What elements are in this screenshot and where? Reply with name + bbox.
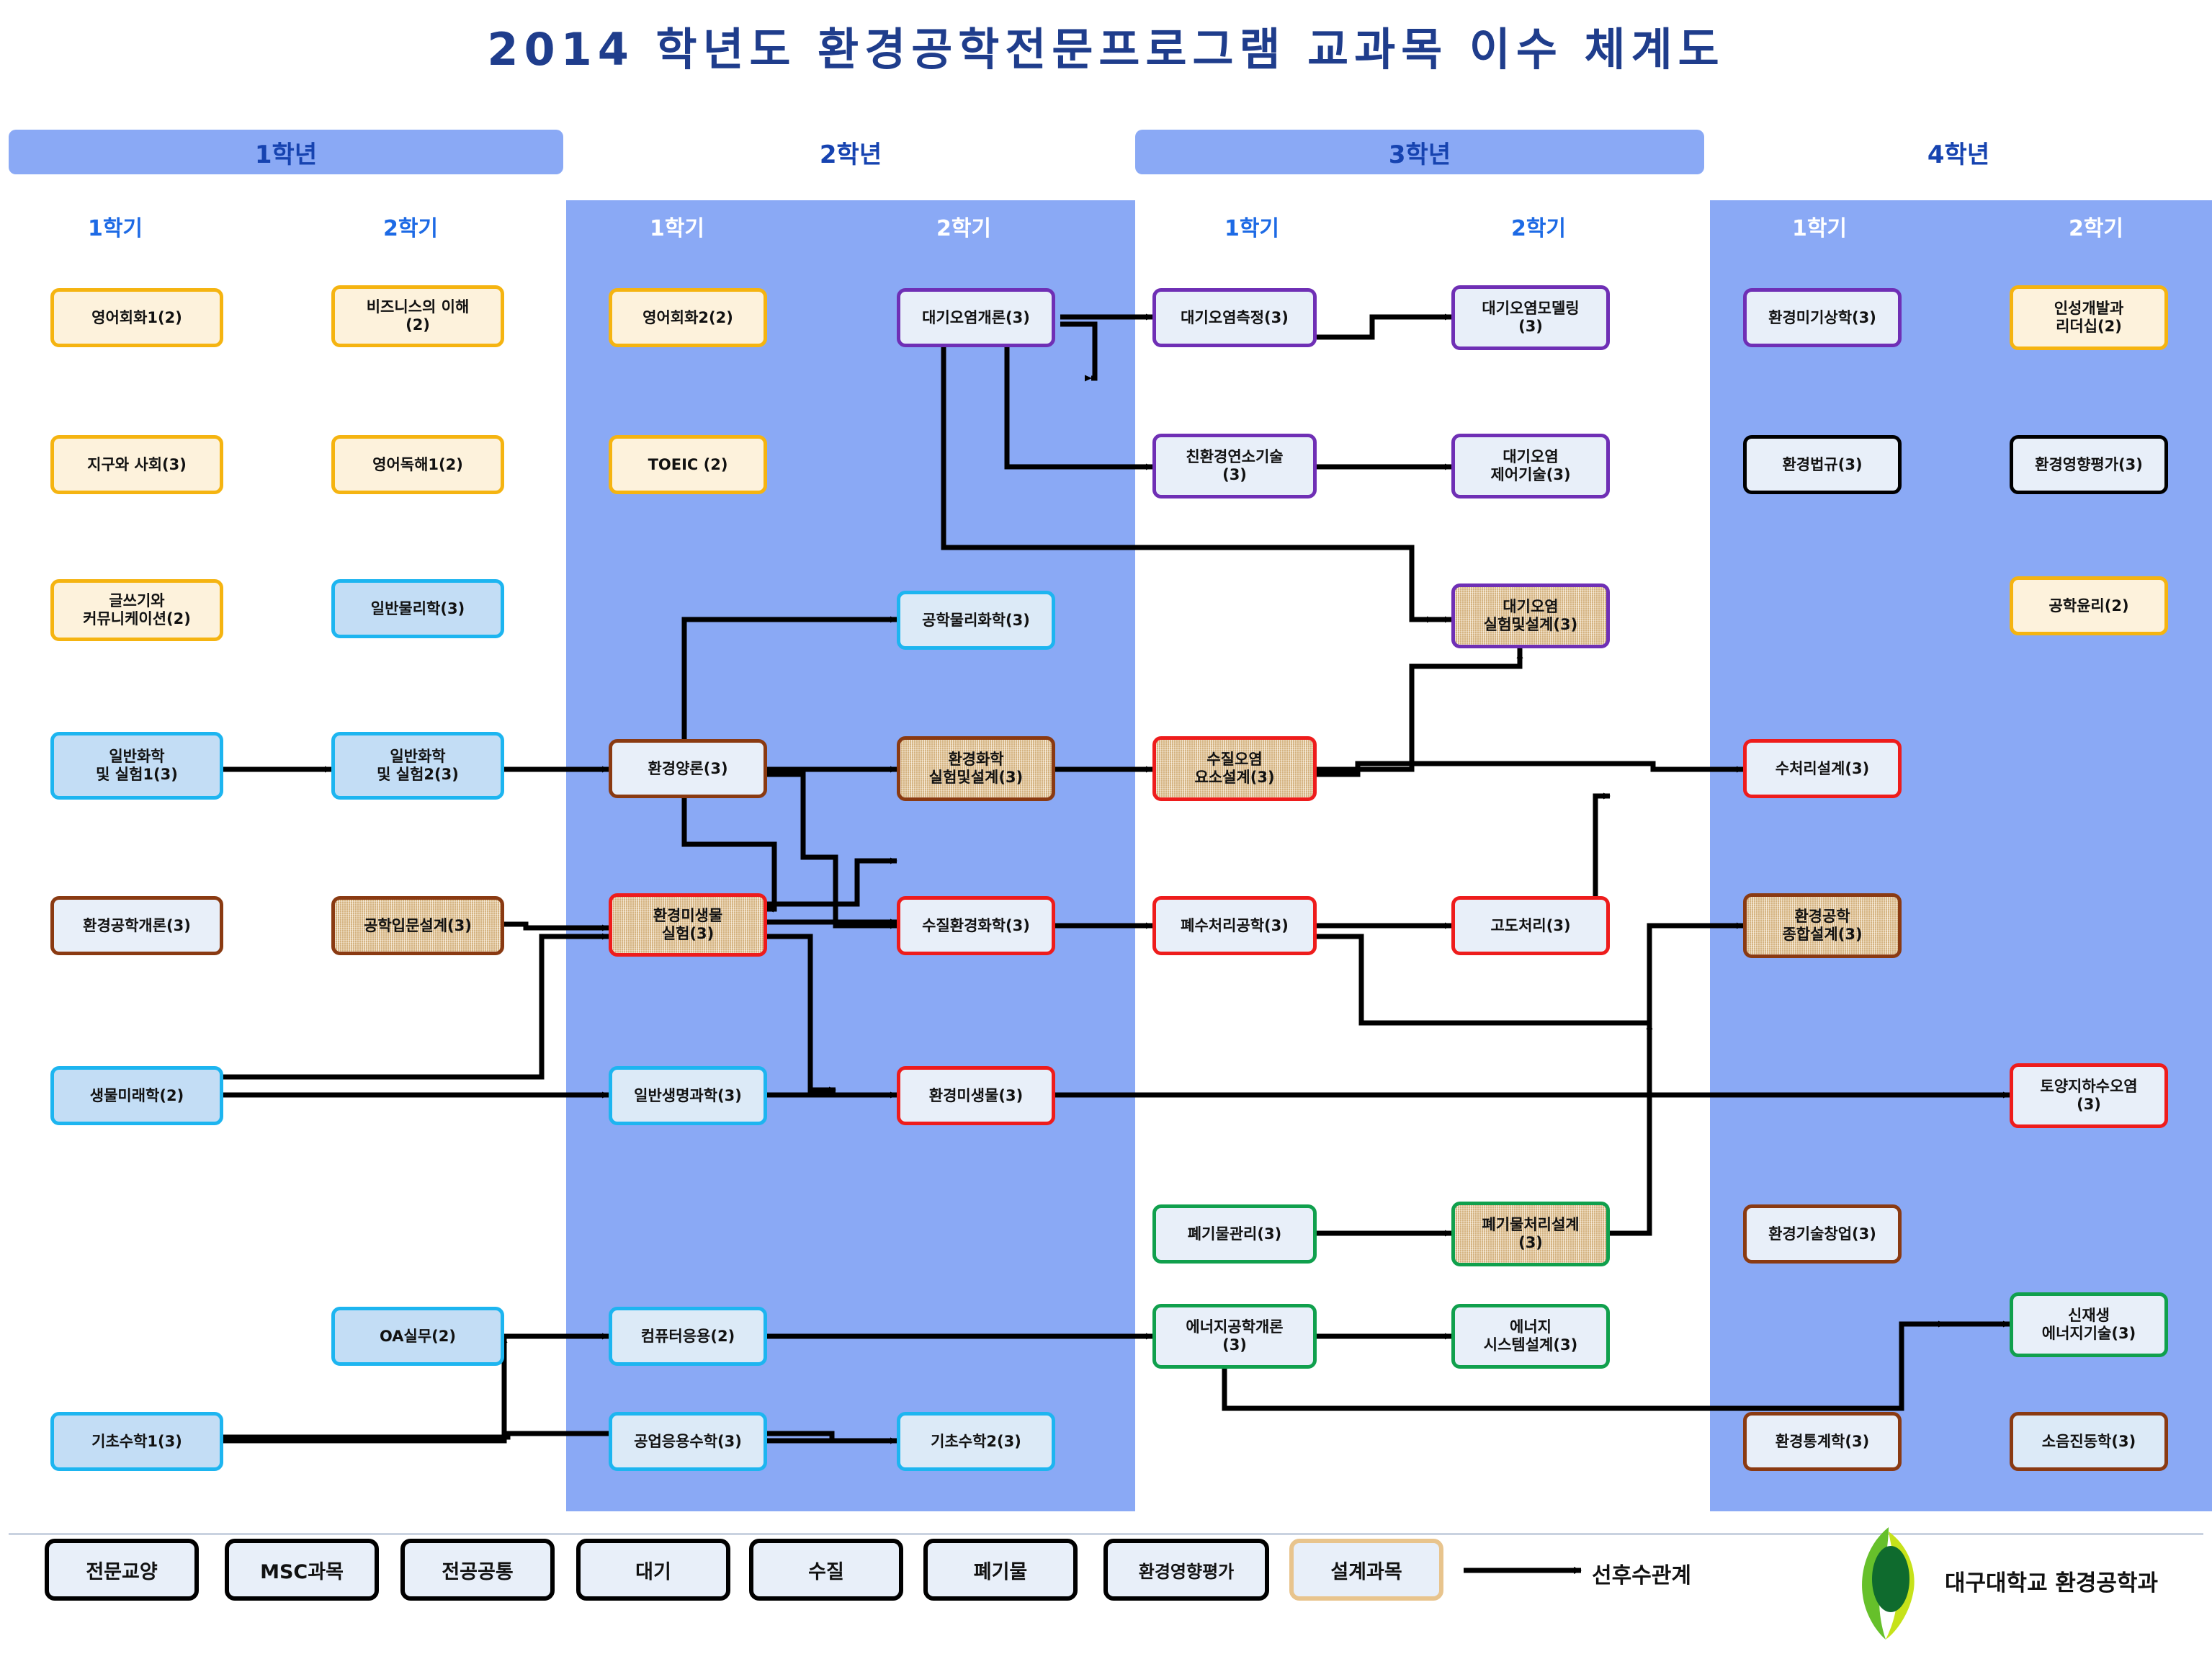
course-box[interactable]: 수처리설계(3): [1743, 739, 1902, 798]
course-box[interactable]: 환경공학개론(3): [50, 896, 223, 955]
course-box[interactable]: 대기오염측정(3): [1152, 288, 1317, 347]
course-box[interactable]: 환경통계학(3): [1743, 1412, 1902, 1471]
course-box[interactable]: 환경법규(3): [1743, 435, 1902, 494]
legend-arrow-label: 선후수관계: [1592, 1557, 1691, 1589]
course-box[interactable]: 토양지하수오염 (3): [2010, 1063, 2168, 1128]
course-box[interactable]: 지구와 사회(3): [50, 435, 223, 494]
course-box[interactable]: 소음진동학(3): [2010, 1412, 2168, 1471]
course-box[interactable]: 폐기물관리(3): [1152, 1204, 1317, 1264]
semester-label-y1s2: 2학기: [324, 210, 497, 242]
course-box[interactable]: 환경양론(3): [609, 739, 767, 798]
semester-label-y3s2: 2학기: [1452, 210, 1625, 242]
year-band-1: 1학년: [9, 130, 563, 174]
course-box[interactable]: 공학윤리(2): [2010, 576, 2168, 635]
semester-label-y2s1: 1학기: [591, 210, 764, 242]
course-box[interactable]: 기초수학1(3): [50, 1412, 223, 1471]
semester-label-y2s2: 2학기: [877, 210, 1050, 242]
course-box[interactable]: 대기오염모델링 (3): [1451, 285, 1610, 350]
course-box[interactable]: 기초수학2(3): [897, 1412, 1055, 1471]
legend-arrow-icon: [1462, 1556, 1592, 1585]
legend-item-msc: MSC과목: [225, 1539, 379, 1601]
legend-item-common: 전공공통: [400, 1539, 555, 1601]
year-band-2: 2학년: [569, 130, 1132, 174]
course-box[interactable]: 일반화학 및 실험2(3): [331, 732, 504, 800]
course-box[interactable]: 고도처리(3): [1451, 896, 1610, 955]
semester-label-y3s1: 1학기: [1165, 210, 1338, 242]
semester-label-y1s1: 1학기: [29, 210, 202, 242]
course-box[interactable]: 컴퓨터응용(2): [609, 1307, 767, 1366]
course-box[interactable]: 영어독해1(2): [331, 435, 504, 494]
course-box[interactable]: 친환경연소기술 (3): [1152, 434, 1317, 498]
course-box[interactable]: 공학물리화학(3): [897, 591, 1055, 650]
course-box[interactable]: 환경기술창업(3): [1743, 1204, 1902, 1264]
course-box[interactable]: 영어회화1(2): [50, 288, 223, 347]
course-box[interactable]: 폐기물처리설계 (3): [1451, 1202, 1610, 1266]
course-box[interactable]: 환경미생물 실험(3): [609, 893, 767, 957]
organization-label: 대구대학교 환경공학과: [1945, 1565, 2158, 1597]
legend-item-design: 설계과목: [1289, 1539, 1443, 1601]
course-box[interactable]: 에너지 시스템설계(3): [1451, 1304, 1610, 1369]
course-box[interactable]: 일반물리학(3): [331, 579, 504, 638]
course-box[interactable]: 일반생명과학(3): [609, 1066, 767, 1125]
course-box[interactable]: 비즈니스의 이해 (2): [331, 285, 504, 347]
course-box[interactable]: 생물미래학(2): [50, 1066, 223, 1125]
course-box[interactable]: 환경미기상학(3): [1743, 288, 1902, 347]
course-box[interactable]: 환경공학 종합설계(3): [1743, 893, 1902, 958]
legend-item-water: 수질: [749, 1539, 903, 1601]
course-box[interactable]: 영어회화2(2): [609, 288, 767, 347]
course-box[interactable]: 신재생 에너지기술(3): [2010, 1292, 2168, 1357]
semester-label-y4s2: 2학기: [2010, 210, 2182, 242]
year-band-4: 4학년: [1710, 130, 2207, 174]
year-band-3: 3학년: [1135, 130, 1704, 174]
legend-item-air: 대기: [576, 1539, 730, 1601]
university-logo-icon: [1841, 1526, 1935, 1641]
course-box[interactable]: 환경화학 실험및설계(3): [897, 736, 1055, 801]
legend-item-gyoyang: 전문교양: [45, 1539, 199, 1601]
course-box[interactable]: 공업응용수학(3): [609, 1412, 767, 1471]
legend-item-eia: 환경영향평가: [1103, 1539, 1269, 1601]
course-box[interactable]: 환경영향평가(3): [2010, 435, 2168, 494]
course-box[interactable]: 에너지공학개론 (3): [1152, 1304, 1317, 1369]
course-box[interactable]: TOEIC (2): [609, 435, 767, 494]
page-title: 2014 학년도 환경공학전문프로그램 교과목 이수 체계도: [0, 13, 2212, 78]
course-box[interactable]: 폐수처리공학(3): [1152, 896, 1317, 955]
year-band-1-label: 1학년: [255, 135, 317, 170]
course-box[interactable]: 일반화학 및 실험1(3): [50, 732, 223, 800]
legend-item-waste: 폐기물: [923, 1539, 1078, 1601]
course-box[interactable]: OA실무(2): [331, 1307, 504, 1366]
year-band-4-label: 4학년: [1927, 135, 1989, 170]
year-band-3-label: 3학년: [1389, 135, 1451, 170]
year-band-2-label: 2학년: [820, 135, 882, 170]
course-box[interactable]: 대기오염 실험및설계(3): [1451, 583, 1610, 648]
course-box[interactable]: 글쓰기와 커뮤니케이션(2): [50, 579, 223, 641]
course-box[interactable]: 공학입문설계(3): [331, 896, 504, 955]
course-box[interactable]: 인성개발과 리더십(2): [2010, 285, 2168, 350]
course-box[interactable]: 환경미생물(3): [897, 1066, 1055, 1125]
course-box[interactable]: 수질환경화학(3): [897, 896, 1055, 955]
course-box[interactable]: 대기오염 제어기술(3): [1451, 434, 1610, 498]
course-box[interactable]: 대기오염개론(3): [897, 288, 1055, 347]
course-box[interactable]: 수질오염 요소설계(3): [1152, 736, 1317, 801]
semester-label-y4s1: 1학기: [1733, 210, 1906, 242]
